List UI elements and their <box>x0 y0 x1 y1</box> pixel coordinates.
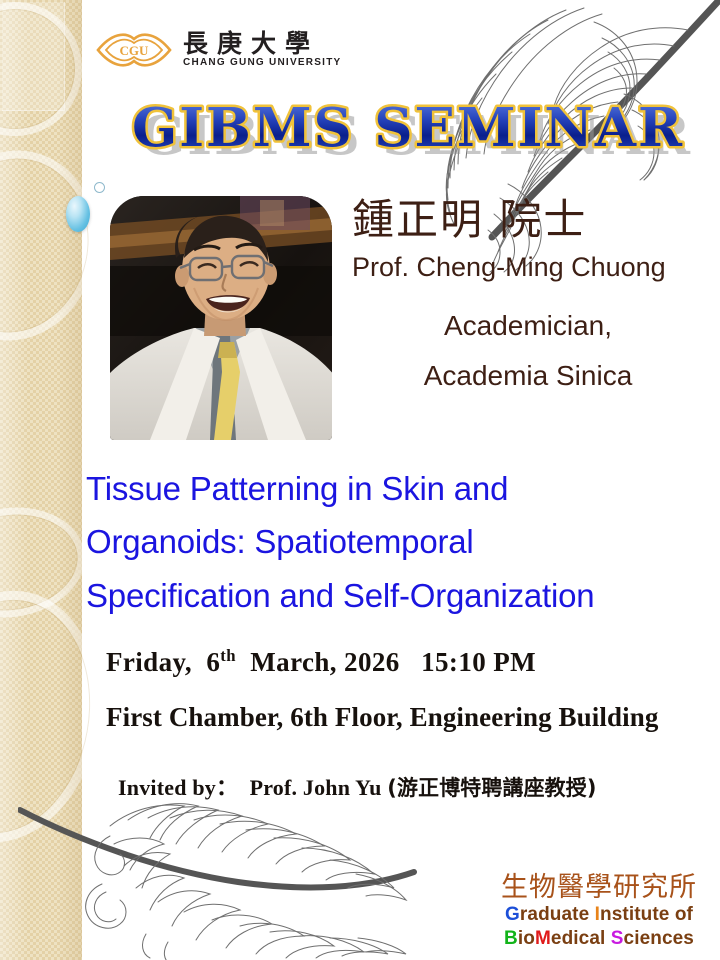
seminar-poster: CGU 長庚大學 CHANG GUNG UNIVERSITY GIBMS SEM… <box>0 0 720 960</box>
event-time: 15:10 PM <box>421 647 536 677</box>
talk-title: Tissue Patterning in Skin and Organoids:… <box>86 462 714 622</box>
seminar-banner-title: GIBMS SEMINAR GIBMS SEMINAR <box>150 98 670 164</box>
speaker-name-en: Prof. Cheng-Ming Chuong <box>352 252 704 283</box>
inst-l2-s5: ciences <box>624 928 694 949</box>
event-date-number: 6 <box>206 647 220 677</box>
speaker-photo <box>110 196 332 440</box>
speaker-affiliation-line1: Academician, <box>352 310 704 342</box>
talk-title-line2: Organoids: Spatiotemporal <box>86 515 714 568</box>
event-month-year: March, 2026 <box>250 647 399 677</box>
banner-title-text: GIBMS SEMINAR <box>132 97 684 159</box>
speaker-name-cn: 鍾正明 院士 <box>352 186 702 247</box>
talk-title-line3: Specification and Self-Organization <box>86 569 714 622</box>
institute-logo: 生物醫學研究所 Graduate Institute of BioMedical… <box>490 872 708 951</box>
institute-name-en-line1: Graduate Institute of <box>490 903 708 927</box>
bead-ring-ornament <box>94 182 105 193</box>
inst-l1-s3: nstitute of <box>600 904 693 925</box>
event-datetime: Friday, 6th March, 2026 15:10 PM <box>106 646 536 678</box>
inst-l2-s4: S <box>611 928 624 949</box>
invited-by-name: Prof. John Yu <box>250 775 382 800</box>
inst-l1-s1: raduate <box>520 904 595 925</box>
university-logo: CGU 長庚大學 CHANG GUNG UNIVERSITY <box>95 26 345 74</box>
institute-name-cn: 生物醫學研究所 <box>490 872 708 903</box>
inst-l2-s2: M <box>535 928 551 949</box>
institute-name-en-line2: BioMedical Sciences <box>490 927 708 951</box>
strip-shading <box>0 0 82 960</box>
speaker-affiliation-line2: Academia Sinica <box>352 360 704 392</box>
inst-l2-s1: io <box>518 928 535 949</box>
cgu-mark-icon: CGU <box>95 27 173 73</box>
university-name-cn: 長庚大學 <box>183 31 341 57</box>
invited-by-label: Invited by： <box>118 775 238 800</box>
svg-text:CGU: CGU <box>120 43 150 58</box>
event-day: Friday, <box>106 647 192 677</box>
event-host: Invited by： Prof. John Yu (游正博特聘講座教授) <box>118 770 597 802</box>
invited-by-name-cn: (游正博特聘講座教授) <box>387 776 596 800</box>
university-name-en: CHANG GUNG UNIVERSITY <box>183 57 341 69</box>
talk-title-line1: Tissue Patterning in Skin and <box>86 462 714 515</box>
event-date-ordinal: th <box>220 646 236 665</box>
inst-l2-s0: B <box>504 928 518 949</box>
inst-l1-s0: G <box>505 904 520 925</box>
event-venue: First Chamber, 6th Floor, Engineering Bu… <box>106 702 658 733</box>
left-border-strip <box>0 0 82 960</box>
blue-bead-ornament <box>66 196 90 232</box>
inst-l2-s3: edical <box>551 928 611 949</box>
